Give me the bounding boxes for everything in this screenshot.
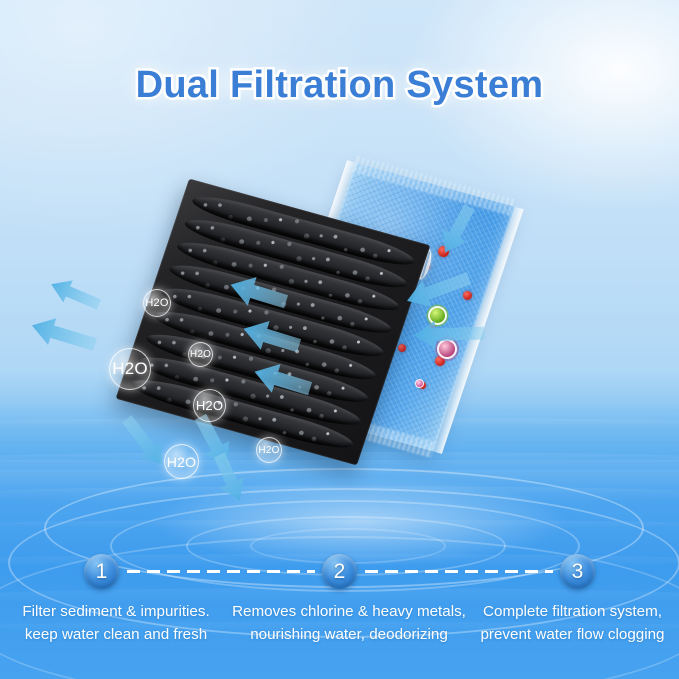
step-badge-1[interactable]: 1 [84,554,119,589]
filter-assembly: H2OH2OH2OH2OH2OH2O [0,0,679,520]
product-infographic: Dual Filtration System H2OH2OH2OH2OH2OH2… [0,0,679,679]
step-caption-1: Filter sediment & impurities. keep water… [0,600,232,646]
arrow-inflow-lower [413,318,486,350]
h2o-bubble: H2O [143,289,171,317]
h2o-bubble: H2O [193,389,226,422]
dot-particle [398,344,406,352]
dash-connector-1-2 [127,570,315,573]
step-caption-2: Removes chlorine & heavy metals, nourish… [224,600,474,646]
ring-particle [415,379,424,388]
step-badge-3[interactable]: 3 [560,554,595,589]
h2o-bubble: H2O [256,437,282,463]
h2o-bubble: H2O [188,342,213,367]
steps-section: 1Filter sediment & impurities. keep wate… [0,548,679,679]
dash-connector-2-3 [365,570,553,573]
pad-fringe-top [353,156,518,216]
h2o-bubble: H2O [164,444,199,479]
arrow-outflow-upper [27,311,101,360]
arrow-outflow-bottom [206,448,253,507]
step-badge-2[interactable]: 2 [322,554,357,589]
arrow-outflow-top [45,272,105,317]
h2o-bubble: H2O [109,348,151,390]
step-caption-3: Complete filtration system, prevent wate… [466,600,679,646]
